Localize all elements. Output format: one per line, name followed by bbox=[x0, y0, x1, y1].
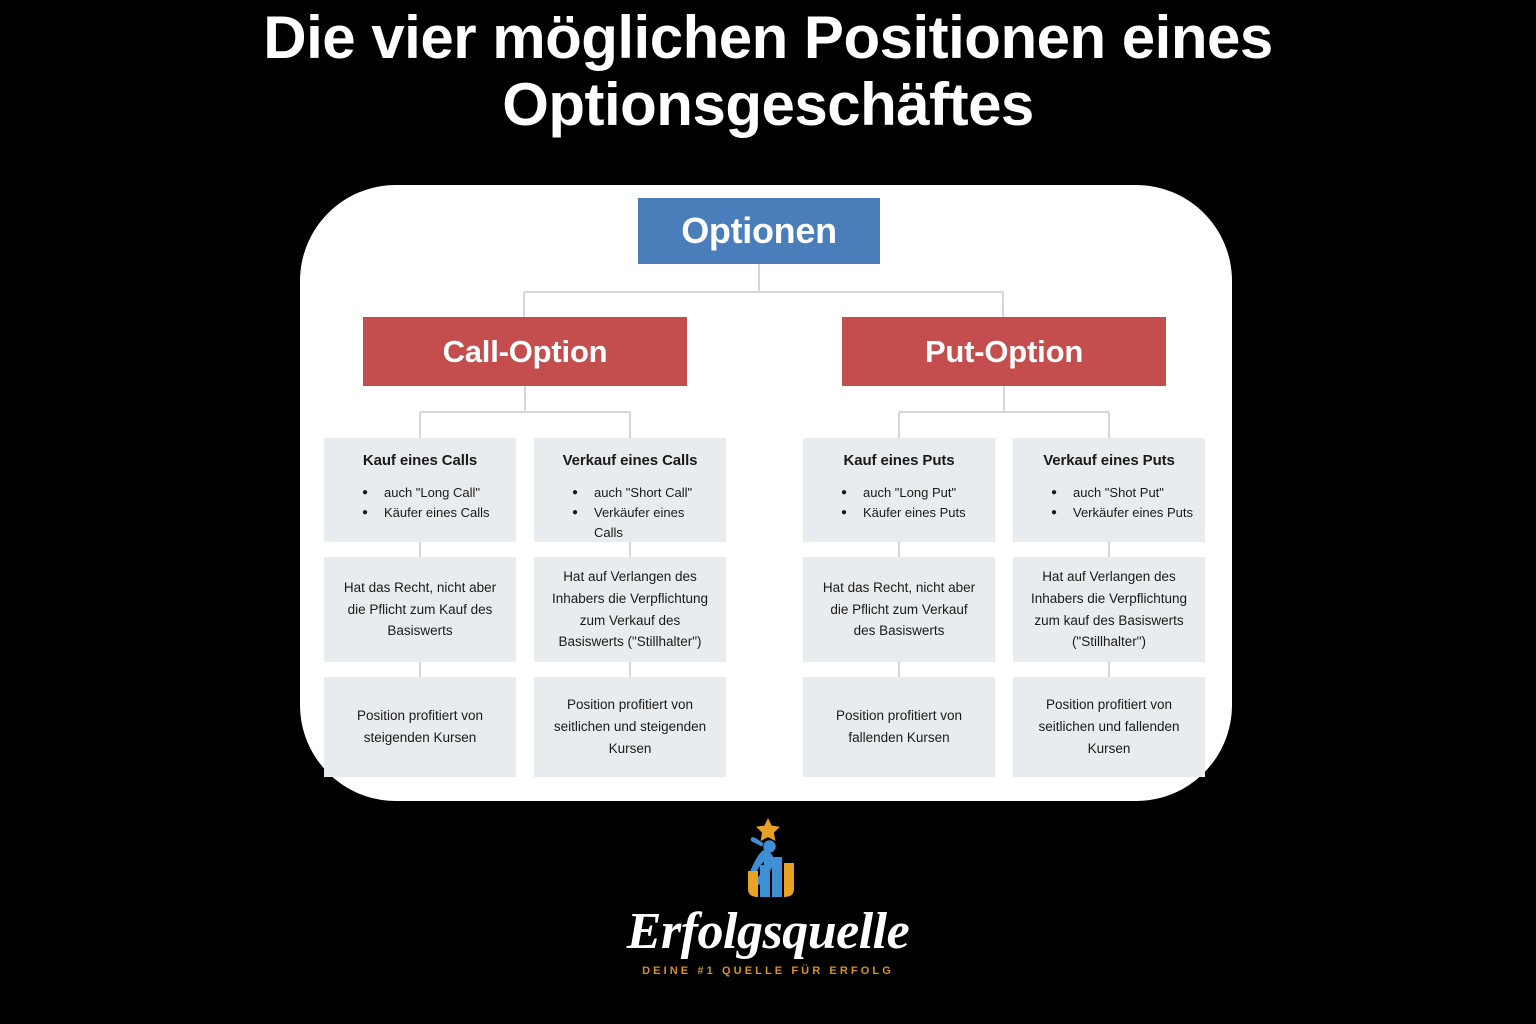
leaf-verkauf-eines-puts[interactable]: Verkauf eines Puts auch "Shot Put" Verkä… bbox=[1013, 438, 1205, 542]
node-optionen-label: Optionen bbox=[681, 210, 837, 252]
list-item: auch "Short Call" bbox=[572, 483, 716, 503]
diagram-card: Optionen Call-Option Put-Option Kauf ein… bbox=[300, 185, 1232, 801]
definition-verkauf-eines-puts: Hat auf Verlangen des Inhabers die Verpf… bbox=[1013, 557, 1205, 662]
node-call-option-label: Call-Option bbox=[443, 334, 608, 370]
leaf-kauf-eines-puts[interactable]: Kauf eines Puts auch "Long Put" Käufer e… bbox=[803, 438, 995, 542]
list-item: Verkäufer eines Calls bbox=[572, 503, 716, 543]
leaf-title: Kauf eines Puts bbox=[813, 452, 985, 469]
leaf-title: Verkauf eines Calls bbox=[544, 452, 716, 469]
list-item: auch "Long Call" bbox=[362, 483, 490, 503]
definition-text: Hat auf Verlangen des Inhabers die Verpf… bbox=[550, 566, 710, 653]
leaf-bullet-list: auch "Short Call" Verkäufer eines Calls bbox=[544, 483, 716, 543]
node-put-option[interactable]: Put-Option bbox=[842, 317, 1166, 386]
list-item: Verkäufer eines Puts bbox=[1051, 503, 1193, 523]
leaf-bullet-list: auch "Long Call" Käufer eines Calls bbox=[334, 483, 490, 523]
definition-text: Hat auf Verlangen des Inhabers die Verpf… bbox=[1029, 566, 1189, 653]
logo-mark bbox=[708, 815, 828, 910]
page-title: Die vier möglichen Positionen eines Opti… bbox=[0, 4, 1536, 138]
leaf-title: Kauf eines Calls bbox=[334, 452, 506, 469]
node-put-option-label: Put-Option bbox=[925, 334, 1083, 370]
leaf-verkauf-eines-calls[interactable]: Verkauf eines Calls auch "Short Call" Ve… bbox=[534, 438, 726, 542]
leaf-title: Verkauf eines Puts bbox=[1023, 452, 1195, 469]
node-optionen[interactable]: Optionen bbox=[638, 198, 880, 264]
definition-verkauf-eines-calls: Hat auf Verlangen des Inhabers die Verpf… bbox=[534, 557, 726, 662]
leaf-kauf-eines-calls[interactable]: Kauf eines Calls auch "Long Call" Käufer… bbox=[324, 438, 516, 542]
profit-text: Position profitiert von fallenden Kursen bbox=[819, 705, 979, 749]
profit-text: Position profitiert von seitlichen und s… bbox=[550, 694, 710, 760]
definition-kauf-eines-calls: Hat das Recht, nicht aber die Pflicht zu… bbox=[324, 557, 516, 662]
list-item: Käufer eines Puts bbox=[841, 503, 966, 523]
profit-text: Position profitiert von steigenden Kurse… bbox=[340, 705, 500, 749]
profit-verkauf-eines-puts: Position profitiert von seitlichen und f… bbox=[1013, 677, 1205, 777]
profit-text: Position profitiert von seitlichen und f… bbox=[1029, 694, 1189, 760]
profit-kauf-eines-calls: Position profitiert von steigenden Kurse… bbox=[324, 677, 516, 777]
logo-tagline: DEINE #1 QUELLE FÜR ERFOLG bbox=[642, 965, 894, 977]
list-item: Käufer eines Calls bbox=[362, 503, 490, 523]
node-call-option[interactable]: Call-Option bbox=[363, 317, 687, 386]
leaf-bullet-list: auch "Shot Put" Verkäufer eines Puts bbox=[1023, 483, 1193, 523]
brand-logo: Erfolgsquelle DEINE #1 QUELLE FÜR ERFOLG bbox=[0, 815, 1536, 977]
leaf-bullet-list: auch "Long Put" Käufer eines Puts bbox=[813, 483, 966, 523]
star-icon bbox=[756, 818, 780, 841]
definition-kauf-eines-puts: Hat das Recht, nicht aber die Pflicht zu… bbox=[803, 557, 995, 662]
definition-text: Hat das Recht, nicht aber die Pflicht zu… bbox=[819, 577, 979, 643]
profit-verkauf-eines-calls: Position profitiert von seitlichen und s… bbox=[534, 677, 726, 777]
list-item: auch "Shot Put" bbox=[1051, 483, 1193, 503]
logo-wordmark: Erfolgsquelle bbox=[627, 906, 909, 958]
profit-kauf-eines-puts: Position profitiert von fallenden Kursen bbox=[803, 677, 995, 777]
definition-text: Hat das Recht, nicht aber die Pflicht zu… bbox=[340, 577, 500, 643]
list-item: auch "Long Put" bbox=[841, 483, 966, 503]
